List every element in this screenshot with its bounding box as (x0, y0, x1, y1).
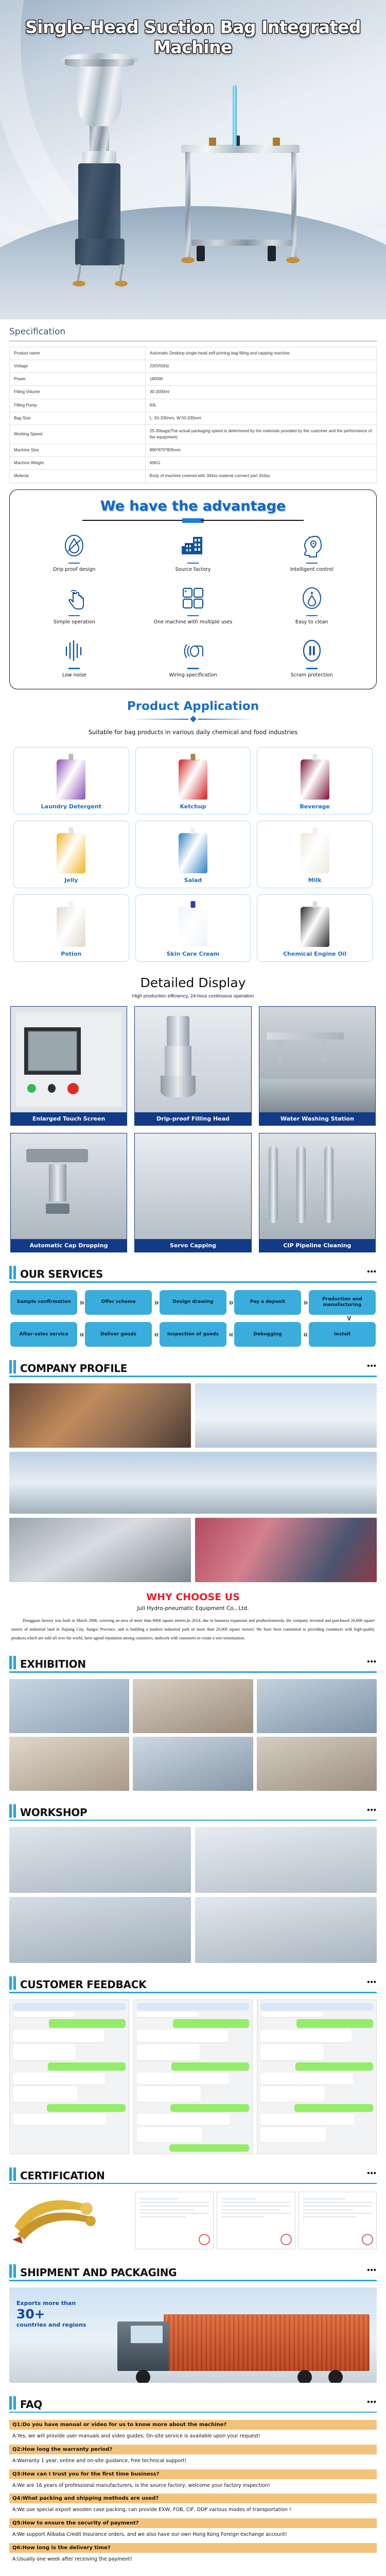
advantage-label: Source factory (137, 567, 250, 573)
chat-bubble (137, 2087, 201, 2102)
product-application-divider (0, 717, 386, 721)
application-pouch-image (139, 900, 248, 947)
application-card[interactable]: Beverage (257, 747, 373, 815)
chat-bubble (260, 2030, 352, 2042)
spec-value: 60KG (145, 457, 376, 470)
detail-photo (11, 1007, 127, 1112)
application-label: Salad (139, 877, 248, 884)
certificate-documents (135, 2192, 377, 2249)
detailed-display-heading: Detailed Display (0, 975, 386, 990)
section-dots-icon: ••• (367, 2266, 377, 2275)
flow-arrow-icon: » (227, 1297, 233, 1308)
company-profile-header: COMPANY PROFILE ••• (0, 1360, 386, 1374)
advantage-underline (68, 668, 80, 669)
four-squares-icon (137, 585, 250, 612)
faq-answer: A:Warranty 1 year, online and on-site gu… (9, 2454, 377, 2468)
flow-down-arrow-icon: ∨ (10, 1316, 376, 1321)
advantage-item: Drip proof design (15, 530, 134, 574)
chat-bubble (169, 2144, 249, 2151)
application-label: Chemical Engine Oil (260, 951, 369, 957)
chat-bubble (173, 2019, 250, 2028)
spec-key: Filling Pump (10, 399, 146, 412)
faq-question[interactable]: Q6:How long is the delivery time? (9, 2543, 377, 2553)
touch-hand-icon (18, 585, 131, 612)
flow-arrow-icon: « (227, 1329, 233, 1340)
advantage-item: Easy to clean (252, 583, 371, 627)
spec-value: Automatic Desktop single-head self-primi… (145, 347, 376, 360)
certification-header: CERTIFICATION ••• (0, 2167, 386, 2181)
spec-row: Machine Size890*870*805mm (10, 444, 377, 457)
advantage-underline (306, 615, 318, 617)
application-card[interactable]: Laundry Detergent (13, 747, 129, 815)
detail-caption: Servo Capping (135, 1239, 251, 1252)
spec-key: Machine Weight (10, 457, 146, 470)
section-marker-icon (9, 2396, 16, 2410)
company-photo-staff-group (195, 1518, 377, 1582)
section-marker-icon (9, 1266, 16, 1279)
spec-key: Filling Volume (10, 386, 146, 399)
factory-icon (137, 532, 250, 559)
chat-bubble (260, 2073, 353, 2084)
spec-key: Power (10, 373, 146, 386)
detail-caption: Automatic Cap Dropping (11, 1239, 127, 1252)
faq-question[interactable]: Q1:Do you have manual or video for us to… (9, 2420, 377, 2430)
faq-question[interactable]: Q4:What packing and shipping methods are… (9, 2494, 377, 2503)
flow-arrow-icon: « (78, 1329, 83, 1340)
certificate-seal-icon (280, 2234, 292, 2245)
spec-key: Working Speed (10, 425, 146, 444)
section-dots-icon: ••• (367, 2398, 377, 2406)
advantage-heading: We have the advantage (15, 498, 371, 514)
faq-answer: A:We support Alibaba Credit Insurance or… (9, 2528, 377, 2542)
advantage-underline (306, 563, 318, 564)
shipment-header: SHIPMENT AND PACKAGING ••• (0, 2264, 386, 2278)
chat-header (137, 2003, 250, 2010)
application-pouch-image (139, 752, 248, 800)
spec-value: 1800W (145, 373, 376, 386)
spec-value: 60L (145, 399, 376, 412)
application-pouch-image (139, 826, 248, 873)
certificate-document (299, 2192, 377, 2249)
section-marker-icon (9, 1656, 16, 1669)
spec-row: Working Speed25-35bags(The actual packag… (10, 425, 377, 444)
flow-arrow-icon: » (78, 1297, 83, 1308)
company-profile-heading: COMPANY PROFILE (20, 1363, 127, 1374)
application-card[interactable]: Milk (257, 821, 373, 888)
chat-bubble (260, 2044, 323, 2060)
section-marker-icon (9, 2264, 16, 2278)
chat-header (13, 2003, 126, 2010)
application-pouch-image (17, 752, 126, 800)
application-pouch-image (260, 900, 369, 947)
advantage-label: Drip proof design (18, 567, 131, 573)
pause-stop-icon (255, 637, 368, 664)
chat-bubble (13, 2030, 104, 2042)
application-card[interactable]: Salad (135, 821, 251, 888)
flow-arrow-icon: » (302, 1297, 307, 1308)
certification-heading: CERTIFICATION (20, 2171, 105, 2181)
spec-row: Product nameAutomatic Desktop single-hea… (10, 347, 377, 360)
detail-caption: Enlarged Touch Screen (11, 1112, 127, 1125)
advantage-card: We have the advantage Drip proof design … (9, 489, 377, 690)
advantage-item: Low noise (15, 635, 134, 680)
flow-step: Pay a deposit (234, 1290, 301, 1315)
faq-answer: A:Usually one week after receiving the p… (9, 2553, 377, 2567)
exhibition-gallery (0, 1673, 386, 1791)
spec-row: MaterialBody of machine covered with 304… (10, 470, 377, 483)
customer-feedback-header: CUSTOMER FEEDBACK ••• (0, 1976, 386, 1990)
workshop-photo (9, 1897, 191, 1963)
advantage-item: Scram protection (252, 635, 371, 680)
advantage-label: Wiring specification (137, 672, 250, 679)
application-label: Laundry Detergent (17, 803, 126, 810)
application-card[interactable]: Potion (13, 894, 129, 962)
faq-answer: A:Yes, we will provide user manuals and … (9, 2430, 377, 2444)
spec-row: Bag SizeL: 50-330mm, W:50-330mm (10, 412, 377, 425)
chat-bubble (260, 2012, 322, 2017)
application-card[interactable]: Chemical Engine Oil (257, 894, 373, 962)
spec-value: Body of machine covered with 304ss mater… (145, 470, 376, 483)
detail-caption: Water Washing Station (259, 1112, 375, 1125)
advantage-label: Easy to clean (255, 619, 368, 626)
flow-arrow-icon: « (302, 1329, 307, 1340)
chat-bubble (137, 2030, 228, 2042)
chat-bubble (294, 2104, 373, 2112)
chat-bubble (171, 2062, 249, 2071)
advantage-item: Wiring specification (134, 635, 253, 680)
chat-bubble (137, 2127, 202, 2142)
section-marker-icon (9, 2167, 16, 2181)
section-dots-icon: ••• (367, 2169, 377, 2178)
certificate-document (135, 2192, 214, 2249)
application-pouch-image (260, 826, 369, 873)
section-marker-icon (9, 1360, 16, 1374)
chat-bubble (137, 2073, 229, 2084)
feedback-chat-screenshot (9, 1999, 129, 2154)
detailed-display-grid: Enlarged Touch Screen Drip-proof Filling… (0, 1006, 386, 1252)
advantage-underline (68, 615, 80, 617)
application-card[interactable]: Ketchup (135, 747, 251, 815)
chat-bubble (260, 2114, 354, 2125)
chat-bubble (137, 2114, 230, 2125)
section-marker-icon (9, 1976, 16, 1990)
exhibition-photo (133, 1737, 253, 1791)
chat-bubble (137, 2012, 199, 2017)
detail-photo (259, 1007, 375, 1112)
advantage-underline (187, 668, 199, 669)
detail-photo (135, 1133, 251, 1239)
advantage-label: Low noise (18, 672, 131, 679)
detail-card[interactable]: Automatic Cap Dropping (10, 1133, 127, 1252)
section-dots-icon: ••• (367, 1362, 377, 1370)
workshop-heading: WORKSHOP (20, 1807, 87, 1818)
section-marker-icon (9, 1804, 16, 1818)
application-label: Beverage (260, 803, 369, 810)
sound-wave-icon (18, 637, 131, 664)
certificate-seal-icon (362, 2234, 373, 2245)
spec-value: 890*870*805mm (145, 444, 376, 457)
spec-value: 25-35bags(The actual packaging speed is … (145, 425, 376, 444)
workshop-photo (195, 1897, 377, 1963)
spec-value: 30-2000ml (145, 386, 376, 399)
detail-caption: Drip-proof Filling Head (135, 1112, 251, 1125)
chat-bubble (13, 2087, 77, 2102)
flow-step: Aftar-sales service (10, 1322, 77, 1347)
spec-value: 220V50Hz (145, 360, 376, 373)
detail-card[interactable]: Enlarged Touch Screen (10, 1006, 127, 1126)
product-application-grid: Laundry Detergent Ketchup Beverage Jelly… (0, 747, 386, 962)
application-pouch-image (17, 900, 126, 947)
spec-key: Machine Size (10, 444, 146, 457)
flow-step: Offer scheme (85, 1290, 152, 1315)
spec-key: Bag Size (10, 412, 146, 425)
detail-card[interactable]: Servo Capping (134, 1133, 251, 1252)
spec-key: Voltage (10, 360, 146, 373)
company-photo-factory-front (9, 1452, 377, 1514)
flow-step: Design drawing (160, 1290, 226, 1315)
application-label: Ketchup (139, 803, 248, 810)
ribbon-award-icon (9, 2190, 107, 2248)
advantage-label: Intelligent control (255, 567, 368, 573)
flow-step: Deliver goods (85, 1322, 152, 1347)
chat-bubble (260, 2087, 325, 2102)
advantage-item: Simple operation (15, 583, 134, 627)
shipment-heading: SHIPMENT AND PACKAGING (20, 2267, 177, 2278)
service-flow-row-1: Sample confirmation»Offer scheme»Design … (10, 1290, 376, 1315)
advantage-label: Simple operation (18, 619, 131, 626)
flow-arrow-icon: « (153, 1329, 158, 1340)
drip-proof-icon (18, 532, 131, 559)
application-pouch-image (17, 826, 126, 873)
spec-value: L: 50-330mm, W:50-330mm (145, 412, 376, 425)
exhibition-header: EXHIBITION ••• (0, 1656, 386, 1669)
workshop-photo (195, 1827, 377, 1893)
advantage-item: Intelligent control (252, 530, 371, 574)
export-badge-line1: Exports more than (16, 2300, 86, 2307)
flow-step: Inspection of goods (160, 1322, 226, 1347)
certification-award-illustration (9, 2190, 130, 2251)
chat-bubble (170, 2104, 249, 2112)
faq-answer: A:We use special export wooden case pack… (9, 2503, 377, 2517)
detailed-display-subtitle: High production efficiency, 24-hour cont… (0, 993, 386, 999)
certificate-document (217, 2192, 295, 2249)
chat-bubble (296, 2019, 373, 2028)
flow-step: Debugging (234, 1322, 301, 1347)
shipment-underline (9, 2280, 377, 2281)
export-badge: Exports more than 30+ countries and regi… (16, 2300, 86, 2329)
chat-bubble (295, 2062, 373, 2071)
shipment-banner: Exports more than 30+ countries and regi… (9, 2287, 377, 2383)
exhibition-heading: EXHIBITION (20, 1659, 86, 1669)
chat-bubble (13, 2044, 76, 2060)
application-label: Skin Care Cream (139, 951, 248, 957)
advantage-underline (306, 668, 318, 669)
why-choose-us-heading: WHY CHOOSE US (0, 1591, 386, 1603)
section-dots-icon: ••• (367, 1267, 377, 1276)
detail-photo (259, 1133, 375, 1239)
chat-header (260, 2003, 373, 2010)
detail-photo (11, 1133, 127, 1239)
spec-key: Product name (10, 347, 146, 360)
certificate-seal-icon (199, 2234, 210, 2245)
export-badge-count: 30+ (16, 2308, 86, 2320)
spec-key: Material (10, 470, 146, 483)
service-flow: Sample confirmation»Offer scheme»Design … (0, 1283, 386, 1347)
spec-row: Voltage220V50Hz (10, 360, 377, 373)
advantage-item: One machine with multiple uses (134, 583, 253, 627)
flow-step: Install (309, 1322, 376, 1347)
chat-bubble (13, 2012, 75, 2017)
chat-bubble (137, 2044, 200, 2060)
product-detail-page: Single-Head Suction Bag Integrated Machi… (0, 0, 386, 2576)
our-services-header: OUR SERVICES ••• (0, 1266, 386, 1279)
page-title: Single-Head Suction Bag Integrated Machi… (0, 0, 386, 57)
application-label: Jelly (17, 877, 126, 884)
exhibition-photo (9, 1679, 129, 1733)
specification-table: Product nameAutomatic Desktop single-hea… (9, 347, 377, 483)
our-services-heading: OUR SERVICES (20, 1269, 103, 1279)
application-card[interactable]: Skin Care Cream (135, 894, 251, 962)
advantage-underline (68, 563, 80, 564)
chat-bubble (13, 2073, 105, 2084)
application-label: Milk (260, 877, 369, 884)
advantage-underline (187, 563, 199, 564)
advantage-item: Source factory (134, 530, 253, 574)
section-dots-icon: ••• (367, 1978, 377, 1987)
faq-question[interactable]: Q5:How to ensure the security of payment… (9, 2518, 377, 2528)
chat-bubble (48, 2062, 126, 2071)
detail-card[interactable]: Drip-proof Filling Head (134, 1006, 251, 1126)
workshop-header: WORKSHOP ••• (0, 1804, 386, 1818)
chat-bubble (47, 2104, 126, 2112)
flow-step: Sample confirmation (10, 1290, 77, 1315)
wiring-signal-icon (137, 637, 250, 664)
hero-banner: Single-Head Suction Bag Integrated Machi… (0, 0, 386, 319)
feedback-chat-screenshot (257, 1999, 377, 2154)
faq-question[interactable]: Q2:How long the warranty period? (9, 2445, 377, 2454)
feedback-chat-screenshot (133, 1999, 253, 2154)
customer-feedback-grid (0, 1993, 386, 2154)
faq-header: FAQ ••• (0, 2396, 386, 2410)
certification-content (0, 2184, 386, 2251)
spec-row: Power1800W (10, 373, 377, 386)
application-card[interactable]: Jelly (13, 821, 129, 888)
company-photo-workshop-line (9, 1518, 191, 1582)
detail-card[interactable]: CIP Pipeline Cleaning (259, 1133, 376, 1252)
application-pouch-image (260, 752, 369, 800)
export-badge-line3: countries and regions (16, 2321, 86, 2329)
company-photo-grid (0, 1377, 386, 1582)
faq-question[interactable]: Q3:How can I trust you for the first tim… (9, 2469, 377, 2479)
service-flow-row-2: Aftar-sales service«Deliver goods«Inspec… (10, 1322, 376, 1347)
detail-photo (135, 1007, 251, 1112)
company-photo-office-building (195, 1383, 377, 1448)
detail-caption: CIP Pipeline Cleaning (259, 1239, 375, 1252)
exhibition-photo (9, 1737, 129, 1791)
detail-card[interactable]: Water Washing Station (259, 1006, 376, 1126)
flow-step: Production and manufacturing (309, 1290, 376, 1315)
hero-machine-illustration (0, 49, 386, 291)
advantage-label: One machine with multiple uses (137, 619, 250, 626)
faq-answer: A:We are 16 years of professional manufa… (9, 2479, 377, 2493)
intelligent-head-icon (255, 532, 368, 559)
chat-bubble (13, 2114, 106, 2125)
advantage-grid: Drip proof design Source factory Intelli… (15, 530, 371, 680)
product-application-subtitle: Suitable for bag products in various dai… (0, 728, 386, 736)
section-dots-icon: ••• (367, 1657, 377, 1666)
advantage-underline (187, 615, 199, 617)
faq-list: Q1:Do you have manual or video for us to… (0, 2413, 386, 2576)
workshop-photo (9, 1827, 191, 1893)
workshop-gallery (0, 1821, 386, 1963)
spec-row: Filling Volume30-2000ml (10, 386, 377, 399)
company-description: Dongguan factory was built in March 2006… (0, 1612, 386, 1642)
specification-heading: Specification (0, 319, 386, 341)
flow-arrow-icon: » (153, 1297, 158, 1308)
customer-feedback-heading: CUSTOMER FEEDBACK (20, 1979, 146, 1990)
chat-bubble (49, 2019, 126, 2028)
exhibition-photo (133, 1679, 253, 1733)
water-drop-icon (255, 585, 368, 612)
exhibition-photo (257, 1679, 377, 1733)
faq-heading: FAQ (20, 2399, 42, 2410)
spec-row: Filling Pump60L (10, 399, 377, 412)
exhibition-photo (257, 1737, 377, 1791)
product-application-heading: Product Application (0, 700, 386, 713)
company-photo-team-event (9, 1383, 191, 1448)
company-name: Juli Hydro-pneumatic Equipment Co., Ltd. (0, 1605, 386, 1612)
chat-bubble (260, 2127, 326, 2142)
advantage-divider (15, 518, 371, 523)
specification-divider (9, 341, 377, 342)
application-label: Potion (17, 951, 126, 957)
spec-row: Machine Weight60KG (10, 457, 377, 470)
advantage-label: Scram protection (255, 672, 368, 679)
section-dots-icon: ••• (367, 1806, 377, 1815)
